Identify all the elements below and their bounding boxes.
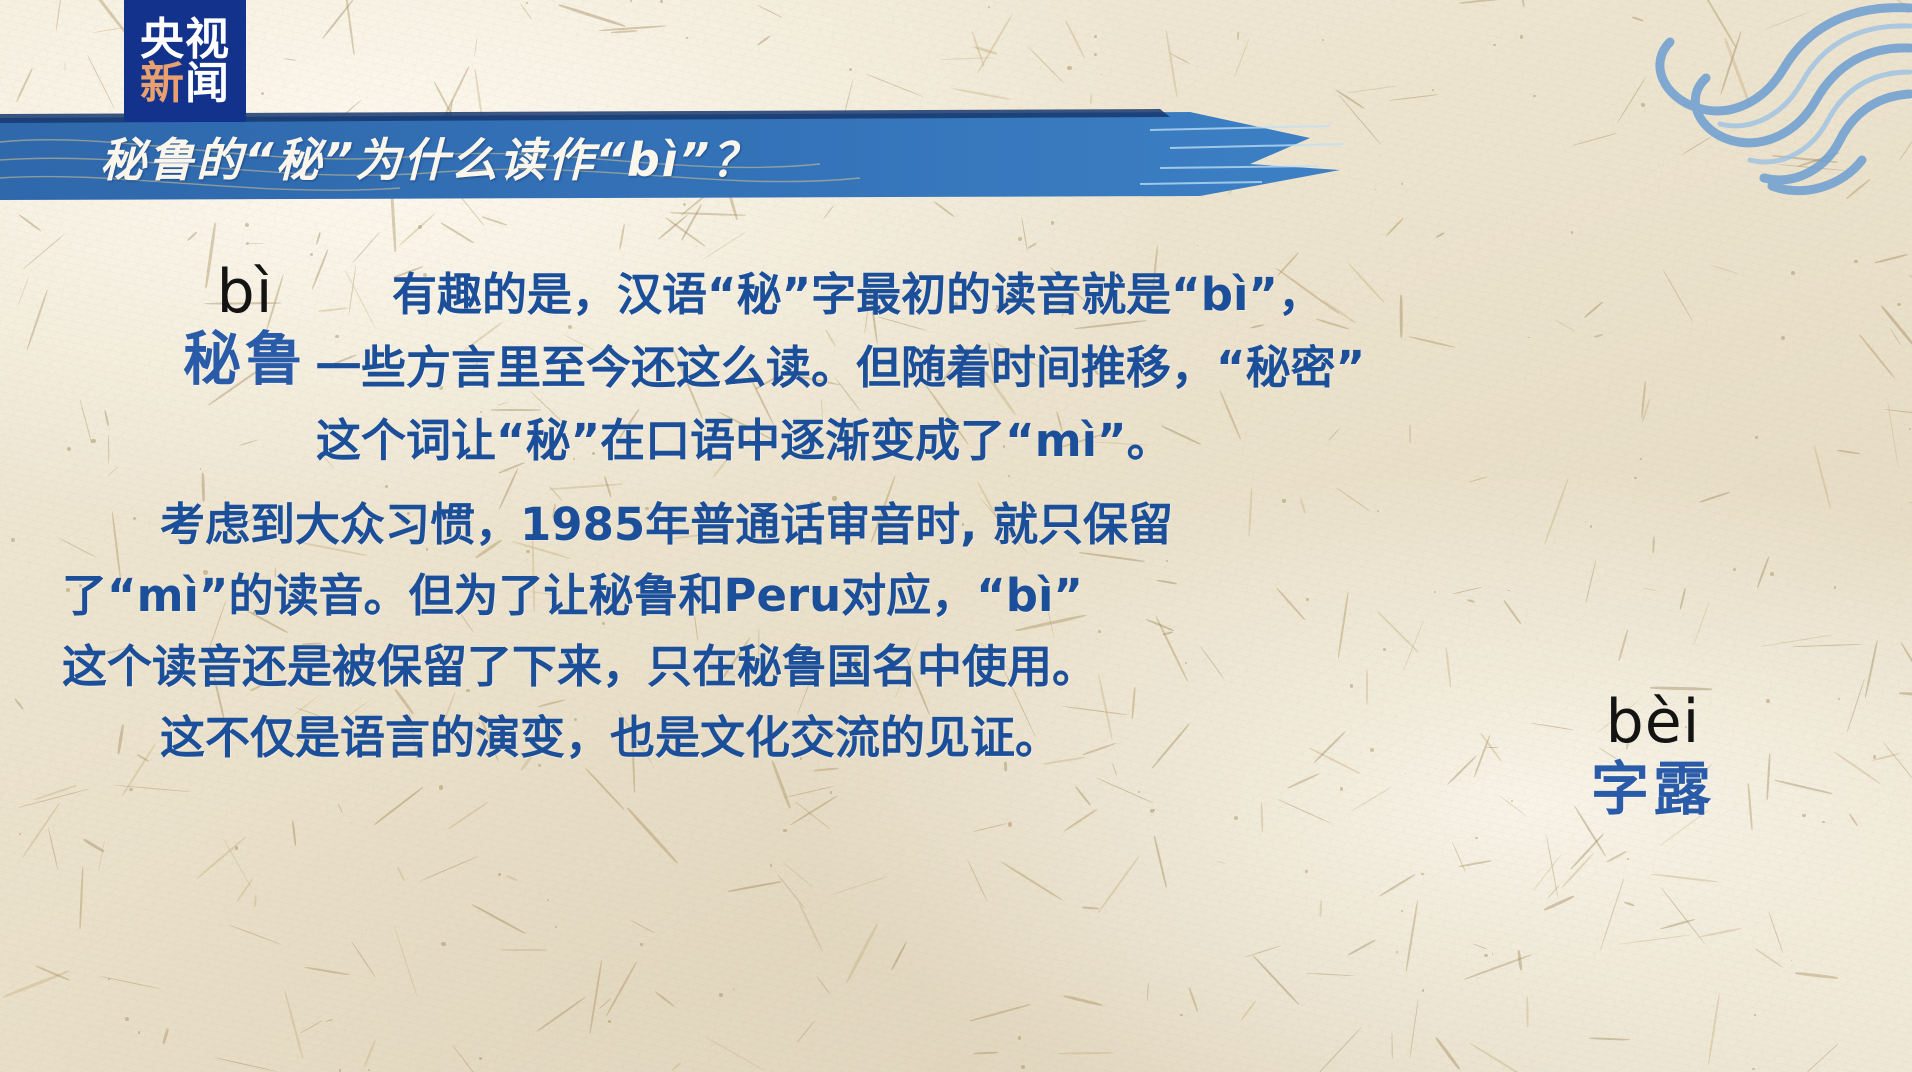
pinyin-bi: bì (140, 262, 350, 322)
paragraph-one-line-2: 一些方言里至今还这么读。但随着时间推移，“秘密” (316, 345, 1912, 390)
paragraph-one-line-3: 这个词让“秘”在口语中逐渐变成了“mì”。 (316, 418, 1912, 463)
logo-char-yang: 央 (140, 18, 185, 62)
logo-char-wen: 闻 (185, 62, 230, 106)
page-title: 秘鲁的“秘”为什么读作“bì”？ (100, 124, 759, 190)
cctv-news-logo: 央 视 新 闻 (124, 0, 246, 122)
paragraph-two-line-1: 考虑到大众习惯，1985年普通话审音时, 就只保留 (160, 502, 1912, 547)
paragraph-one-line-1: 有趣的是，汉语“秘”字最初的读音就是“bì”， (392, 272, 1912, 317)
title-banner: 秘鲁的“秘”为什么读作“bì”？ (0, 108, 1400, 208)
poster-canvas: 央 视 新 闻 (0, 0, 1912, 1072)
cloud-swirl-decoration (1412, 0, 1912, 240)
paragraph-two-line-3: 这个读音还是被保留了下来，只在秘鲁国名中使用。 (62, 644, 1912, 689)
word-zilu: 字露 (1538, 758, 1768, 821)
label-zilu-pinyin: bèi 字露 (1538, 692, 1768, 821)
word-peru: 秘鲁 (140, 328, 350, 391)
paragraph-two-line-2: 了“mì”的读音。但为了让秘鲁和Peru对应，“bì” (62, 573, 1912, 618)
logo-char-shi: 视 (185, 18, 230, 62)
label-peru-pinyin: bì 秘鲁 (140, 262, 350, 391)
logo-char-xin: 新 (140, 62, 185, 106)
pinyin-bei: bèi (1538, 692, 1768, 752)
